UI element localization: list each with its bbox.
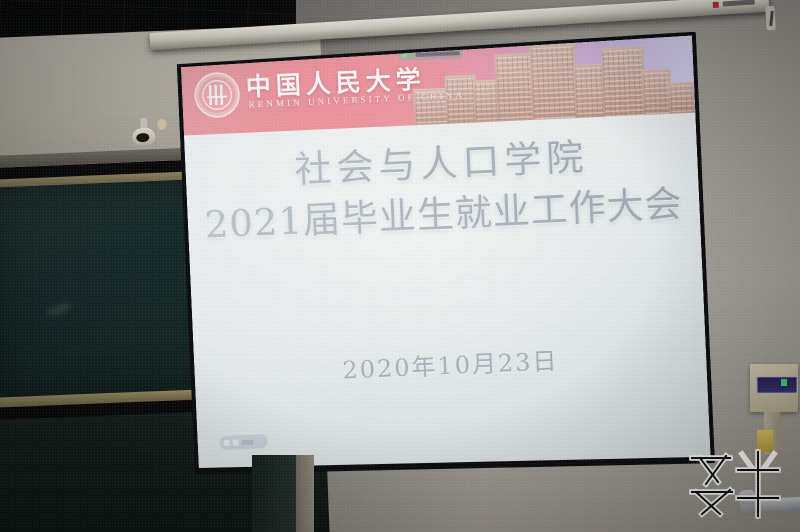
projection-screen: 中国人民大学 RENMIN UNIVERSITY OF CHINA 社会与人口学… [148,23,724,502]
stylized-chinese-watermark [686,448,782,520]
toolbar-slider[interactable] [242,439,254,445]
slide-date: 2020年10月23日 [194,334,707,392]
chalk-smudge [45,301,73,318]
housing-brand-mark [713,2,719,8]
classroom-photo: 中国人民大学 RENMIN UNIVERSITY OF CHINA 社会与人口学… [0,0,800,532]
renmin-university-seal-icon [195,73,239,117]
toolbar-button-2[interactable] [233,439,239,445]
doorway-shadow [252,455,298,532]
control-panel-led [781,379,787,386]
powerpoint-presenter-toolbar[interactable] [219,434,268,450]
presentation-slide: 中国人民大学 RENMIN UNIVERSITY OF CHINA 社会与人口学… [180,35,710,481]
toolbar-button-1[interactable] [224,440,230,446]
wall-control-panel[interactable] [750,364,798,412]
seal-glyph [207,85,228,106]
slide-title-block: 社会与人口学院 2021届毕业生就业工作大会 [185,131,701,250]
housing-brand-text [723,0,755,6]
door-jamb [296,455,314,532]
control-panel-lcd [756,376,798,394]
